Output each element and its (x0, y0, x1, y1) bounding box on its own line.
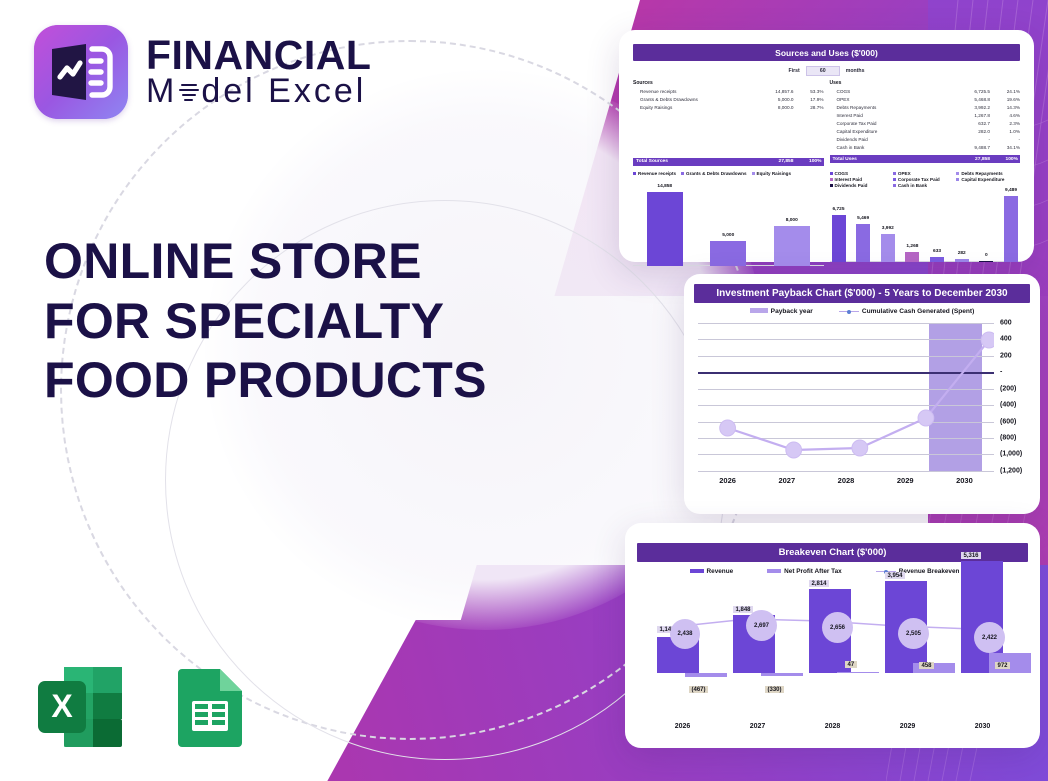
brand-logo: FINANCIAL M del Excel (34, 25, 371, 119)
table-row: Interest Paid 1,267.8 4.6% (830, 112, 1021, 120)
table-row: OPEX 5,468.8 19.6% (830, 96, 1021, 104)
financial-model-logo-icon (34, 25, 128, 119)
bar: 0 (979, 261, 993, 262)
row-value: 5,000.0 (760, 96, 794, 104)
months-label: months (846, 68, 865, 74)
bar: 5,469 (856, 224, 870, 262)
table-row: Debts Repayments 3,992.2 14.3% (830, 104, 1021, 112)
row-pct: 24.1% (990, 88, 1020, 96)
format-icons: X (34, 665, 248, 756)
x-tick: 2026 (698, 476, 757, 485)
table-row: Grants & Debts Drawdowns 5,000.0 17.9% (633, 96, 824, 104)
y-tick: 600 (1000, 320, 1012, 327)
x-tick: 2027 (757, 476, 816, 485)
npat-bar (837, 672, 879, 674)
uses-plot: 6,725 5,469 3,992 1,268 633 282 0 9,489 (830, 194, 1021, 262)
breakeven-bubble: 2,438 (670, 619, 700, 649)
row-label: Capital Expenditure (830, 128, 957, 136)
bar-label: 0 (985, 253, 988, 258)
y-tick: 200 (1000, 352, 1012, 359)
revenue-label: 3,954 (885, 572, 905, 579)
brand-line-2-suffix: del Excel (201, 75, 366, 108)
card-investment-payback: Investment Payback Chart ($'000) - 5 Yea… (684, 274, 1040, 514)
row-label: Cash in Bank (830, 144, 957, 152)
row-pct: 1.0% (990, 128, 1020, 136)
legend-item: Net Profit After Tax (767, 568, 842, 575)
x-tick: 2029 (870, 723, 945, 730)
table-spacer (633, 112, 824, 155)
row-pct: 53.3% (794, 88, 824, 96)
bar: 3,992 (881, 234, 895, 262)
uses-header: Uses (830, 80, 1021, 86)
total-pct: 100% (990, 157, 1020, 162)
legend-item: OPEX (893, 171, 956, 176)
row-value: 9,488.7 (956, 144, 990, 152)
row-label: Debts Repayments (830, 104, 957, 112)
breakeven-x-axis: 2026 2027 2028 2029 2030 (645, 723, 1020, 730)
y-tick: (800) (1000, 434, 1016, 441)
bar-label: 633 (933, 249, 941, 254)
y-tick: 400 (1000, 336, 1012, 343)
table-row: COGS 6,725.5 24.1% (830, 88, 1021, 96)
legend-item: Cumulative Cash Generated (Spent) (839, 308, 974, 315)
slide-canvas: FINANCIAL M del Excel ONLINE STORE FOR S… (0, 0, 1048, 781)
table-row: Corporate Tax Paid 632.7 2.3% (830, 120, 1021, 128)
breakeven-plot: 1,140 (467) 2,438 1,848 (330) 2,697 2,81… (645, 581, 1020, 701)
bar: 14,858 (647, 192, 683, 266)
revenue-label: 2,814 (809, 580, 829, 587)
legend-item: Revenue (690, 568, 734, 575)
row-label: OPEX (830, 96, 957, 104)
sources-uses-table: Sources Revenue receipts 14,857.6 53.3% … (633, 80, 1020, 166)
y-tick: (200) (1000, 385, 1016, 392)
npat-bar (761, 673, 803, 676)
payback-plot: 600 400 200 - (200) (400) (600) (800) (1… (698, 323, 994, 471)
table-row: Revenue receipts 14,857.6 53.3% (633, 88, 824, 96)
google-sheets-icon (170, 665, 248, 756)
bar-group: 14,858 5,000 8,000 (633, 186, 824, 266)
x-tick: 2028 (816, 476, 875, 485)
sources-bar-chart: Revenue receipts Grants & Debts Drawdown… (633, 171, 824, 266)
legend-item: Equity Raisings (752, 171, 791, 176)
x-tick: 2030 (945, 723, 1020, 730)
row-pct: 14.3% (990, 104, 1020, 112)
breakeven-bubble: 2,422 (974, 622, 1005, 653)
payback-x-axis: 2026 2027 2028 2029 2030 (698, 476, 994, 485)
row-label: Dividends Paid (830, 136, 957, 144)
legend-item: Payback year (750, 308, 813, 315)
x-tick: 2029 (876, 476, 935, 485)
sources-plot: 14,858 5,000 8,000 (633, 186, 824, 266)
brand-line-1: FINANCIAL (146, 36, 371, 76)
npat-label: (330) (765, 686, 784, 693)
card-sources-and-uses: Sources and Uses ($'000) First 60 months… (619, 30, 1034, 262)
row-value: 14,857.6 (760, 88, 794, 96)
payback-y-axis: 600 400 200 - (200) (400) (600) (800) (1… (996, 323, 1032, 471)
total-sources-row: Total Sources 27,858 100% (633, 158, 824, 166)
months-input[interactable]: 60 (806, 66, 840, 76)
first-months-control: First 60 months (627, 66, 1026, 76)
legend-item: Dividends Paid (830, 183, 893, 188)
first-label: First (789, 68, 800, 74)
npat-bar (685, 673, 727, 677)
revenue-label: 5,316 (961, 552, 981, 559)
table-row: Equity Raisings 8,000.0 28.7% (633, 104, 824, 112)
bar: 9,489 (1004, 196, 1018, 262)
total-value: 27,858 (760, 159, 794, 164)
row-label: Corporate Tax Paid (830, 120, 957, 128)
row-value: - (956, 136, 990, 144)
bar: 633 (930, 257, 944, 262)
row-label: COGS (830, 88, 957, 96)
row-value: 5,468.8 (956, 96, 990, 104)
total-label: Total Uses (830, 157, 957, 162)
bar-label: 282 (958, 251, 966, 256)
y-tick: (400) (1000, 402, 1016, 409)
payback-title: Investment Payback Chart ($'000) - 5 Yea… (694, 284, 1030, 303)
uses-legend: COGS OPEX Debts Repayments Interest Paid… (830, 171, 1021, 188)
y-tick: (600) (1000, 418, 1016, 425)
row-value: 632.7 (956, 120, 990, 128)
bar-group: 6,725 5,469 3,992 1,268 633 282 0 9,489 (830, 194, 1021, 262)
legend-item: COGS (830, 171, 893, 176)
legend-item: Revenue receipts (633, 171, 676, 176)
card-breakeven: Breakeven Chart ($'000) Revenue Net Prof… (625, 523, 1040, 748)
row-value: 3,992.2 (956, 104, 990, 112)
row-label: Grants & Debts Drawdowns (633, 96, 760, 104)
bar-label: 3,992 (882, 226, 894, 231)
bar-label: 1,268 (906, 244, 918, 249)
legend-item: Grants & Debts Drawdowns (681, 171, 747, 176)
row-pct: 34.1% (990, 144, 1020, 152)
x-tick: 2026 (645, 723, 720, 730)
legend-item: Debts Repayments (956, 171, 1019, 176)
row-pct: 17.9% (794, 96, 824, 104)
legend-item: Corporate Tax Paid (893, 177, 956, 182)
bar: 6,725 (832, 215, 846, 262)
sources-header: Sources (633, 80, 824, 86)
bar-label: 14,858 (657, 184, 672, 189)
table-row: Capital Expenditure 282.0 1.0% (830, 128, 1021, 136)
x-tick: 2030 (935, 476, 994, 485)
sources-column: Sources Revenue receipts 14,857.6 53.3% … (633, 80, 824, 166)
row-label: Equity Raisings (633, 104, 760, 112)
svg-text:X: X (51, 688, 73, 724)
brand-line-2-prefix: M (146, 75, 177, 108)
row-pct: - (990, 136, 1020, 144)
brand-line-2: M del Excel (146, 75, 371, 108)
total-label: Total Sources (633, 159, 760, 164)
legend-item: Capital Expenditure (956, 177, 1019, 182)
stacked-lines-o-glyph-icon (178, 79, 200, 105)
brand-wordmark: FINANCIAL M del Excel (146, 36, 371, 109)
npat-label: 972 (995, 662, 1010, 669)
total-value: 27,858 (956, 157, 990, 162)
breakeven-bubble: 2,505 (898, 618, 929, 649)
total-uses-row: Total Uses 27,858 100% (830, 155, 1021, 163)
legend-item: Interest Paid (830, 177, 893, 182)
y-tick: - (1000, 369, 1002, 376)
x-tick: 2028 (795, 723, 870, 730)
row-value: 1,267.8 (956, 112, 990, 120)
payback-line-series (698, 323, 994, 471)
row-label: Interest Paid (830, 112, 957, 120)
row-pct: 19.6% (990, 96, 1020, 104)
row-value: 6,725.5 (956, 88, 990, 96)
sources-legend: Revenue receipts Grants & Debts Drawdown… (633, 171, 824, 176)
uses-column: Uses COGS 6,725.5 24.1% OPEX 5,468.8 19.… (830, 80, 1021, 166)
legend-item: Cash in Bank (893, 183, 956, 188)
row-value: 282.0 (956, 128, 990, 136)
row-label: Revenue receipts (633, 88, 760, 96)
npat-label: (467) (689, 686, 708, 693)
row-pct: 28.7% (794, 104, 824, 112)
npat-label: 458 (919, 662, 934, 669)
table-row: Dividends Paid - - (830, 136, 1021, 144)
row-pct: 2.3% (990, 120, 1020, 128)
revenue-label: 1,848 (733, 606, 753, 613)
total-pct: 100% (794, 159, 824, 164)
x-tick: 2027 (720, 723, 795, 730)
bar-label: 5,000 (722, 233, 734, 238)
breakeven-bubble: 2,656 (822, 612, 853, 643)
bar-label: 5,469 (857, 216, 869, 221)
page-title: ONLINE STORE FOR SPECIALTY FOOD PRODUCTS (44, 232, 524, 411)
uses-bar-chart: COGS OPEX Debts Repayments Interest Paid… (830, 171, 1021, 266)
bar-label: 8,000 (786, 218, 798, 223)
bar: 8,000 (774, 226, 810, 266)
payback-legend: Payback year Cumulative Cash Generated (… (690, 308, 1034, 315)
bar: 282 (955, 259, 969, 262)
row-pct: 4.6% (990, 112, 1020, 120)
bar: 1,268 (905, 252, 919, 262)
bar-label: 6,725 (832, 207, 844, 212)
excel-icon: X (34, 665, 126, 756)
breakeven-bubble: 2,697 (746, 610, 777, 641)
y-tick: (1,200) (1000, 468, 1022, 475)
npat-label: 47 (845, 661, 857, 668)
y-tick: (1,000) (1000, 451, 1022, 458)
bar-label: 9,489 (1005, 188, 1017, 193)
bar: 5,000 (710, 241, 746, 266)
sources-uses-title: Sources and Uses ($'000) (633, 44, 1020, 61)
table-row: Cash in Bank 9,488.7 34.1% (830, 144, 1021, 152)
row-value: 8,000.0 (760, 104, 794, 112)
